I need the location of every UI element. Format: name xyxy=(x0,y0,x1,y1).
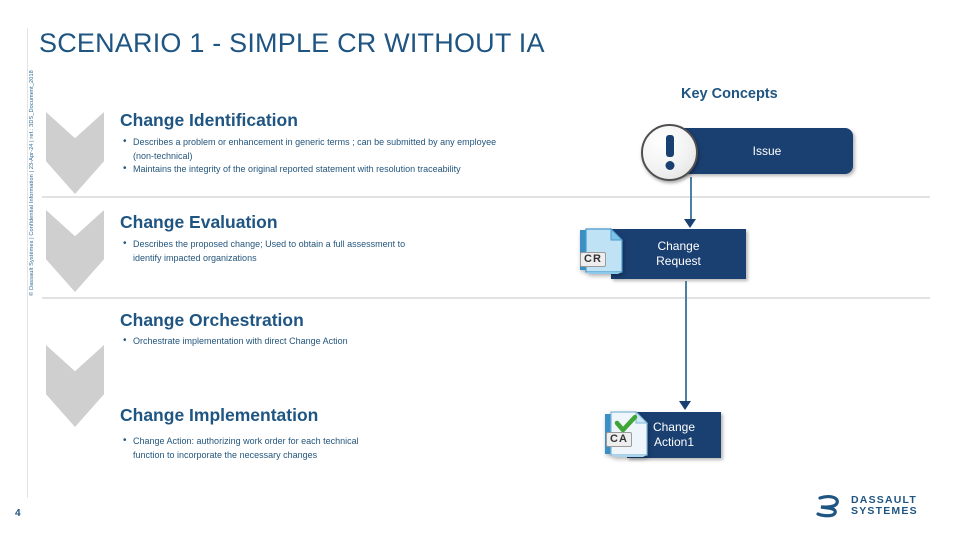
section-bullets-change-implementation: Change Action: authorizing work order fo… xyxy=(122,435,542,462)
dassault-systemes-logo: DASSAULT SYSTEMES xyxy=(815,494,918,518)
confidential-strip: © Dassault Systèmes | Confidential Infor… xyxy=(29,43,35,323)
section-heading-change-implementation: Change Implementation xyxy=(120,405,318,426)
bullet-item: Maintains the integrity of the original … xyxy=(122,163,622,176)
exclamation-bar xyxy=(666,135,674,157)
key-concepts-title: Key Concepts xyxy=(681,86,778,102)
arrowhead-issue-to-cr xyxy=(684,219,696,228)
exclamation-circle-icon xyxy=(641,124,698,181)
connector-issue-to-cr xyxy=(690,177,692,221)
page-number: 4 xyxy=(15,508,21,519)
bullet-continuation: function to incorporate the necessary ch… xyxy=(122,449,542,462)
section-bullets-change-identification: Describes a problem or enhancement in ge… xyxy=(122,136,622,177)
chevron-icon-1 xyxy=(46,112,104,194)
section-heading-change-orchestration: Change Orchestration xyxy=(120,310,304,331)
exclamation-dot xyxy=(665,161,674,170)
left-vertical-rule xyxy=(27,28,28,498)
chevron-icon-2 xyxy=(46,210,104,292)
bullet-item: Change Action: authorizing work order fo… xyxy=(122,435,542,448)
document-icon xyxy=(578,227,624,275)
bullet-item: Describes the proposed change; Used to o… xyxy=(122,238,542,251)
document-tag-cr: CR xyxy=(580,252,606,267)
node-change-request[interactable]: Change Request xyxy=(611,229,746,279)
section-bullets-change-evaluation: Describes the proposed change; Used to o… xyxy=(122,238,542,265)
node-change-action-label-line1: Change xyxy=(653,420,695,435)
document-tag-ca: CA xyxy=(606,432,632,447)
section-separator-2 xyxy=(42,297,930,299)
slide-canvas: © Dassault Systèmes | Confidential Infor… xyxy=(0,0,960,540)
page-title: SCENARIO 1 - SIMPLE CR WITHOUT IA xyxy=(39,28,545,59)
node-change-request-label-line1: Change xyxy=(656,239,701,254)
node-change-action-label-line2: Action1 xyxy=(653,435,695,450)
section-heading-change-evaluation: Change Evaluation xyxy=(120,212,278,233)
bullet-item: Orchestrate implementation with direct C… xyxy=(122,335,542,348)
logo-line-2: SYSTEMES xyxy=(851,506,918,517)
chevron-icon-3 xyxy=(46,345,104,427)
node-change-request-label-line2: Request xyxy=(656,254,701,269)
arrowhead-cr-to-ca xyxy=(679,401,691,410)
connector-cr-to-ca xyxy=(685,281,687,403)
bullet-item: Describes a problem or enhancement in ge… xyxy=(122,136,622,149)
bullet-continuation: (non-technical) xyxy=(122,150,622,163)
section-separator-1 xyxy=(42,196,930,198)
3ds-mark-icon xyxy=(815,494,845,518)
node-issue-label: Issue xyxy=(725,144,782,159)
section-heading-change-identification: Change Identification xyxy=(120,110,298,131)
section-bullets-change-orchestration: Orchestrate implementation with direct C… xyxy=(122,335,542,349)
bullet-continuation: identify impacted organizations xyxy=(122,252,542,265)
